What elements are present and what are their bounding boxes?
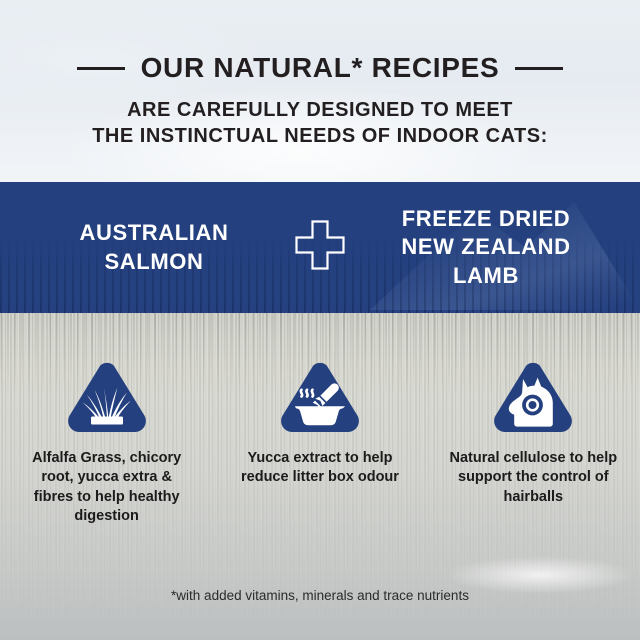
title-row: OUR NATURAL* RECIPES [0, 52, 640, 84]
page-title: OUR NATURAL* RECIPES [141, 52, 500, 84]
grass-icon [64, 360, 150, 436]
ingredient-primary: AUSTRALIAN SALMON [38, 219, 270, 276]
footnote: *with added vitamins, minerals and trace… [0, 588, 640, 603]
plus-icon [270, 219, 370, 277]
benefit-label: Alfalfa Grass, chicory root, yucca extra… [21, 449, 193, 526]
benefit-item-hairballs: Natural cellulose to help support the co… [427, 360, 640, 526]
subtitle-line-2: THE INSTINCTUAL NEEDS OF INDOOR CATS: [0, 123, 640, 149]
infographic-panel: OUR NATURAL* RECIPES ARE CAREFULLY DESIG… [0, 0, 640, 640]
page-subtitle: ARE CAREFULLY DESIGNED TO MEET THE INSTI… [0, 97, 640, 150]
benefit-item-odour: Yucca extract to help reduce litter box … [213, 360, 426, 526]
water-glint [420, 545, 640, 615]
banner-content: AUSTRALIAN SALMON FREEZE DRIED NEW ZEALA… [0, 182, 640, 313]
cat-hairball-icon [490, 360, 576, 436]
ingredients-banner: AUSTRALIAN SALMON FREEZE DRIED NEW ZEALA… [0, 182, 640, 313]
benefits-row: Alfalfa Grass, chicory root, yucca extra… [0, 360, 640, 526]
ingredient-secondary-line-3: LAMB [370, 262, 602, 291]
benefit-label: Yucca extract to help reduce litter box … [234, 449, 406, 488]
benefit-item-digestion: Alfalfa Grass, chicory root, yucca extra… [0, 360, 213, 526]
ingredient-secondary-line-2: NEW ZEALAND [370, 233, 602, 262]
litter-box-icon [277, 360, 363, 436]
ingredient-secondary-line-1: FREEZE DRIED [370, 205, 602, 234]
benefit-label: Natural cellulose to help support the co… [447, 449, 619, 507]
subtitle-line-1: ARE CAREFULLY DESIGNED TO MEET [0, 97, 640, 123]
ingredient-primary-line-1: AUSTRALIAN [38, 219, 270, 248]
rule-right-icon [515, 67, 563, 70]
rule-left-icon [77, 67, 125, 70]
header: OUR NATURAL* RECIPES ARE CAREFULLY DESIG… [0, 0, 640, 150]
ingredient-primary-line-2: SALMON [38, 248, 270, 277]
ingredient-secondary: FREEZE DRIED NEW ZEALAND LAMB [370, 205, 602, 291]
